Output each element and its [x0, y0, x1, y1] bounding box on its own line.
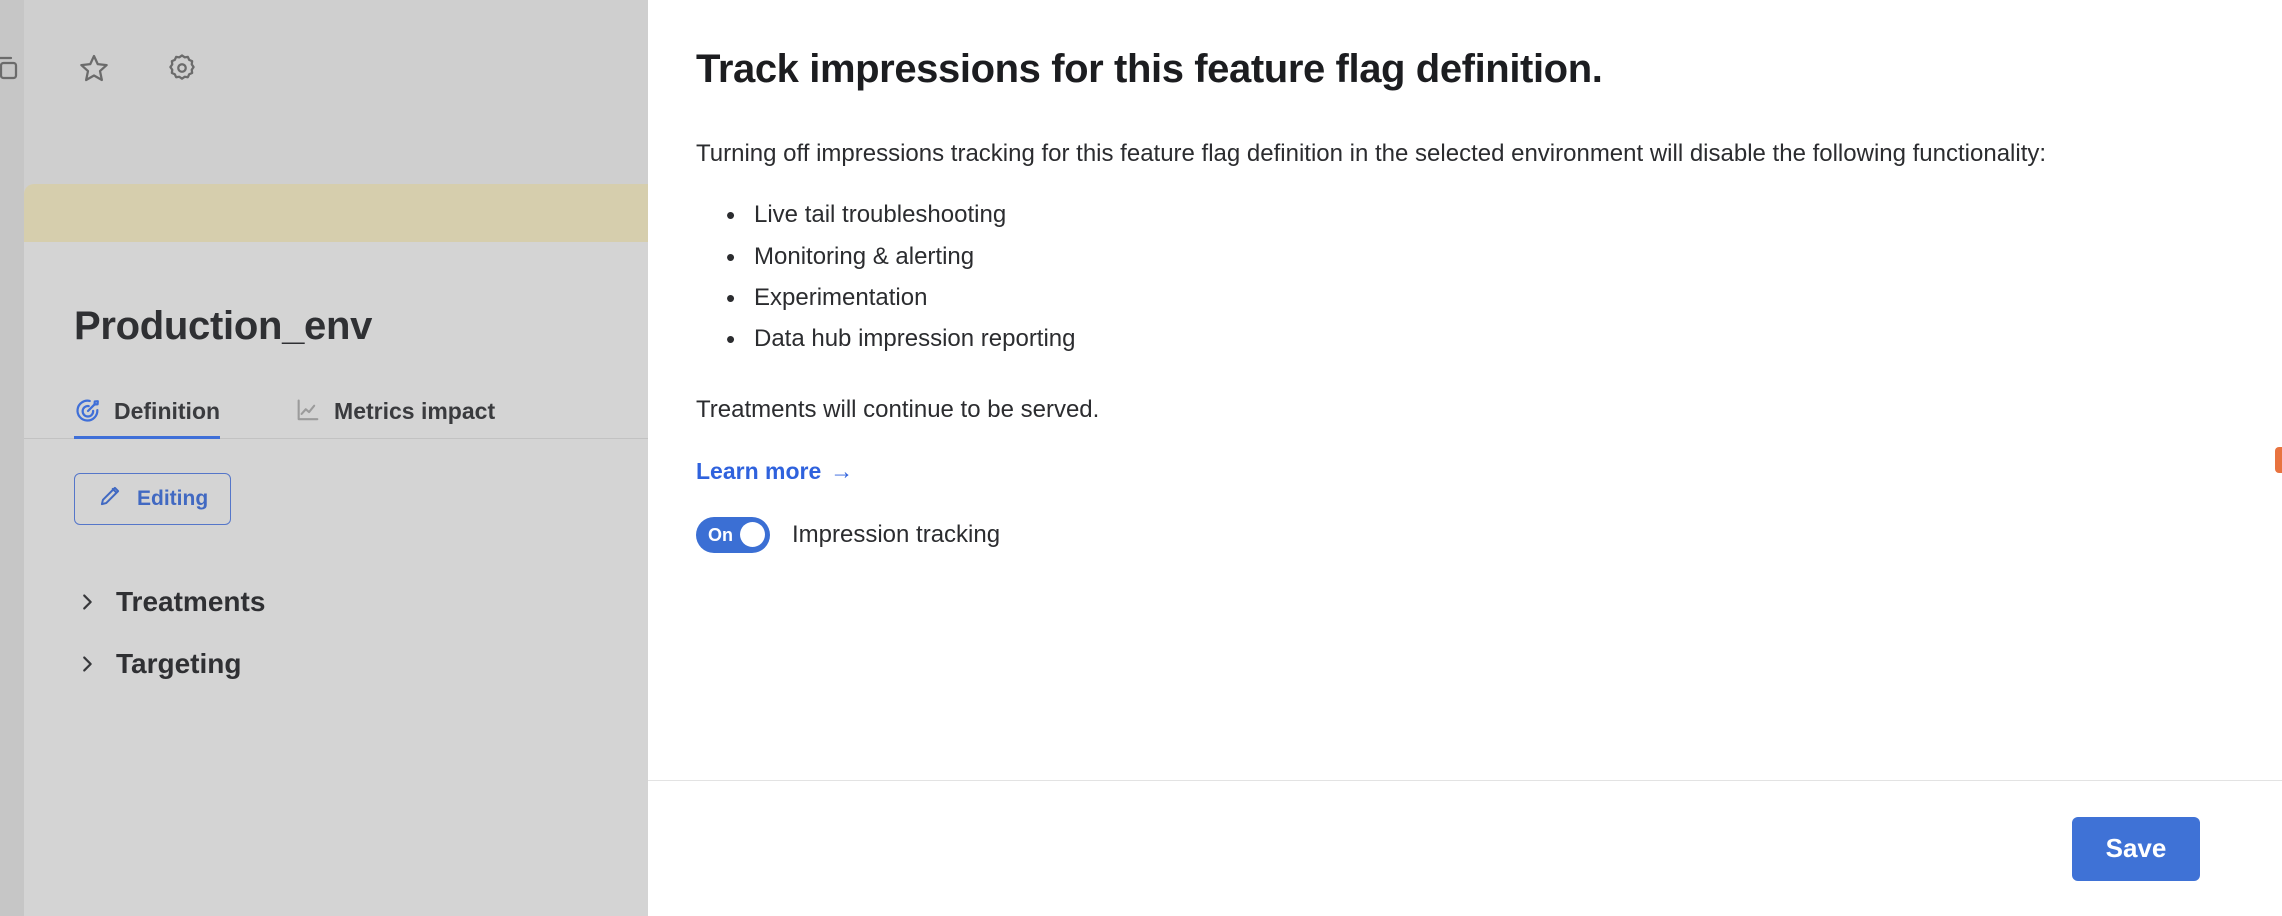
modal-body: Track impressions for this feature flag … [648, 0, 2282, 553]
app-root: Production_env Definition [0, 0, 2282, 916]
pencil-icon [97, 483, 123, 515]
section-treatments[interactable]: Treatments [76, 571, 648, 633]
editing-button-label: Editing [137, 487, 208, 511]
modal-description: Turning off impressions tracking for thi… [696, 136, 2156, 172]
tab-definition[interactable]: Definition [74, 397, 220, 439]
section-targeting-label: Targeting [116, 648, 241, 680]
learn-more-link[interactable]: Learn more → [696, 458, 853, 485]
target-icon [74, 397, 102, 425]
disabled-functionality-list: Live tail troubleshooting Monitoring & a… [696, 194, 2222, 359]
duplicate-icon[interactable] [0, 48, 26, 88]
side-feedback-tab[interactable] [2275, 447, 2282, 473]
section-targeting[interactable]: Targeting [76, 633, 648, 695]
environment-card: Production_env Definition [24, 184, 648, 916]
card-tabs: Definition Metrics impact [74, 397, 648, 439]
list-item: Experimentation [754, 277, 2222, 318]
impression-tracking-toggle[interactable]: On [696, 517, 770, 553]
section-treatments-label: Treatments [116, 586, 265, 618]
editing-button[interactable]: Editing [74, 473, 231, 525]
modal-footer: Save [648, 781, 2282, 916]
list-item: Monitoring & alerting [754, 236, 2222, 277]
impression-tracking-modal: Track impressions for this feature flag … [648, 0, 2282, 916]
gear-icon[interactable] [162, 48, 202, 88]
background-page: Production_env Definition [0, 0, 648, 916]
list-item: Data hub impression reporting [754, 318, 2222, 359]
impression-tracking-row: On Impression tracking [696, 517, 2222, 553]
card-sections: Treatments Targeting [24, 571, 648, 695]
save-button[interactable]: Save [2072, 817, 2200, 881]
modal-note: Treatments will continue to be served. [696, 396, 2222, 424]
toggle-knob [740, 522, 765, 547]
impression-tracking-label: Impression tracking [792, 521, 1000, 549]
learn-more-label: Learn more [696, 458, 821, 485]
chevron-right-icon [76, 653, 98, 675]
arrow-right-icon: → [830, 460, 853, 483]
left-gutter [0, 0, 24, 916]
line-chart-icon [294, 397, 322, 425]
modal-title: Track impressions for this feature flag … [696, 44, 2222, 94]
toggle-state-label: On [708, 526, 733, 544]
card-banner [24, 184, 648, 242]
tab-definition-label: Definition [114, 398, 220, 425]
page-toolbar [0, 48, 202, 88]
chevron-right-icon [76, 591, 98, 613]
tab-metrics-impact-label: Metrics impact [334, 398, 495, 425]
list-item: Live tail troubleshooting [754, 194, 2222, 235]
environment-title: Production_env [74, 304, 648, 349]
tab-metrics-impact[interactable]: Metrics impact [294, 397, 495, 439]
star-icon[interactable] [74, 48, 114, 88]
